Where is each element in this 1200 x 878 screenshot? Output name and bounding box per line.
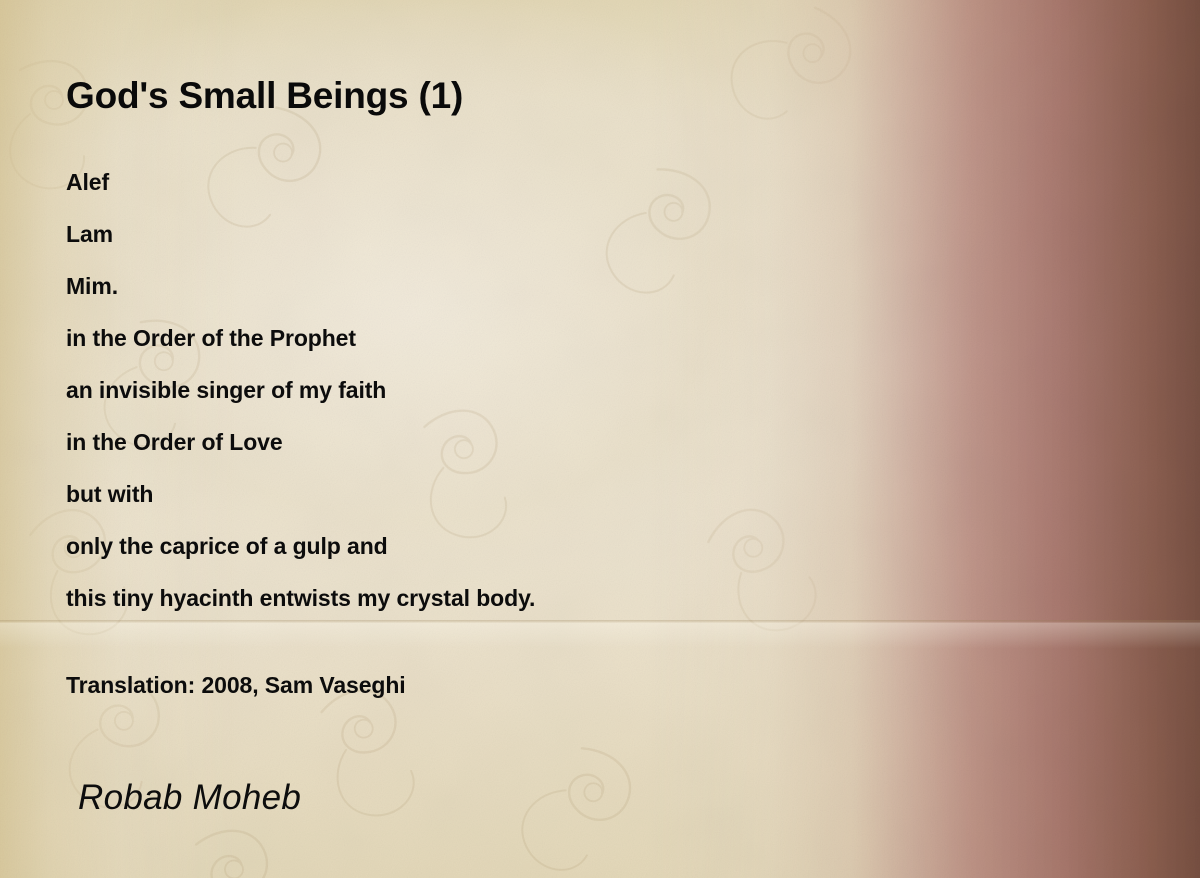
poem-card: God's Small Beings (1) Alef Lam Mim. in … [0,0,1200,878]
poem-line: Alef [66,156,886,208]
poem-line: Lam [66,208,886,260]
poem-line: but with [66,468,886,520]
poem-line: this tiny hyacinth entwists my crystal b… [66,572,886,624]
poem-line: in the Order of Love [66,416,886,468]
translation-credit: Translation: 2008, Sam Vaseghi [66,672,406,699]
poem-line: Mim. [66,260,886,312]
author-signature: Robab Moheb [78,778,301,818]
poem-content: God's Small Beings (1) Alef Lam Mim. in … [0,0,1200,878]
poem-line: only the caprice of a gulp and [66,520,886,572]
poem-line: an invisible singer of my faith [66,364,886,416]
poem-body: Alef Lam Mim. in the Order of the Prophe… [66,156,886,624]
poem-line: in the Order of the Prophet [66,312,886,364]
page-title: God's Small Beings (1) [66,75,463,117]
